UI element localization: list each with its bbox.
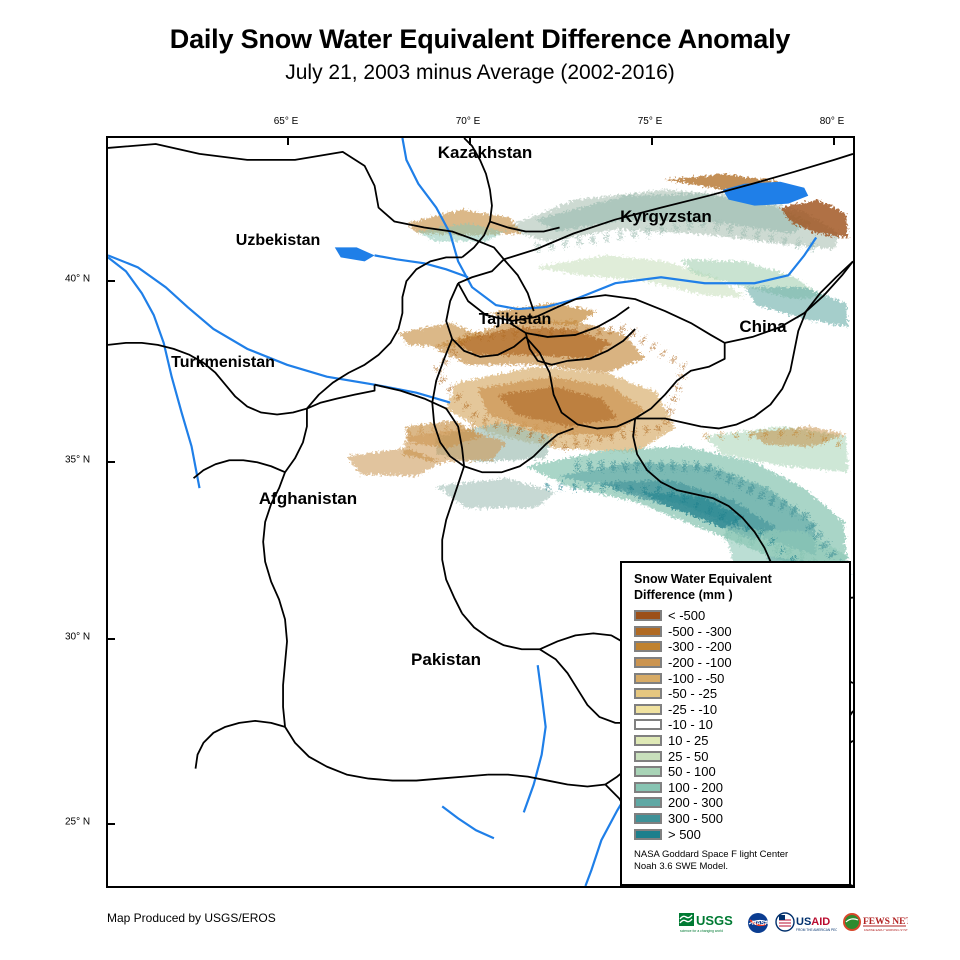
legend-label: > 500 bbox=[668, 828, 701, 841]
lon-tick-mark bbox=[287, 138, 289, 145]
legend-row: > 500 bbox=[634, 826, 841, 842]
legend-label: -50 - -25 bbox=[668, 687, 717, 700]
legend-swatch bbox=[634, 813, 662, 824]
legend-row: < -500 bbox=[634, 608, 841, 624]
legend-row: 100 - 200 bbox=[634, 780, 841, 796]
legend-label: 25 - 50 bbox=[668, 750, 708, 763]
legend-swatch bbox=[634, 829, 662, 840]
legend-title: Snow Water Equivalent Difference (mm ) bbox=[634, 571, 814, 603]
svg-text:USGS: USGS bbox=[696, 913, 733, 928]
lon-tick-label-70e: 70° E bbox=[456, 116, 481, 127]
legend-label: -100 - -50 bbox=[668, 672, 724, 685]
lat-tick-label-25n: 25° N bbox=[65, 817, 90, 828]
legend-row: 200 - 300 bbox=[634, 795, 841, 811]
legend-swatch bbox=[634, 610, 662, 621]
legend-swatch bbox=[634, 782, 662, 793]
legend-label: 300 - 500 bbox=[668, 812, 723, 825]
lat-tick-label-35n: 35° N bbox=[65, 455, 90, 466]
svg-text:science for a changing world: science for a changing world bbox=[680, 929, 723, 933]
map-credit: Map Produced by USGS/EROS bbox=[107, 911, 276, 925]
page-subtitle: July 21, 2003 minus Average (2002-2016) bbox=[0, 58, 960, 88]
lon-tick-label-80e: 80° E bbox=[820, 116, 845, 127]
legend-label: -500 - -300 bbox=[668, 625, 732, 638]
lat-tick-label-30n: 30° N bbox=[65, 632, 90, 643]
legend-label: < -500 bbox=[668, 609, 705, 622]
legend-swatch bbox=[634, 735, 662, 746]
legend-swatch bbox=[634, 719, 662, 730]
legend-label: -10 - 10 bbox=[668, 718, 713, 731]
legend-swatch bbox=[634, 751, 662, 762]
legend-row: -10 - 10 bbox=[634, 717, 841, 733]
legend-row: -500 - -300 bbox=[634, 624, 841, 640]
lon-tick-label-65e: 65° E bbox=[274, 116, 299, 127]
legend-swatch bbox=[634, 688, 662, 699]
lat-tick-mark bbox=[108, 280, 115, 282]
map-legend: Snow Water Equivalent Difference (mm ) <… bbox=[620, 561, 851, 886]
legend-swatch bbox=[634, 766, 662, 777]
lon-tick-mark bbox=[651, 138, 653, 145]
lat-tick-mark bbox=[108, 823, 115, 825]
usaid-logo[interactable]: USAID FROM THE AMERICAN PEOPLE bbox=[775, 911, 837, 935]
legend-label: -25 - -10 bbox=[668, 703, 717, 716]
usgs-logo[interactable]: USGS science for a changing world bbox=[679, 911, 741, 935]
legend-row: -300 - -200 bbox=[634, 639, 841, 655]
legend-label: 100 - 200 bbox=[668, 781, 723, 794]
lat-tick-mark bbox=[108, 461, 115, 463]
logo-strip: USGS science for a changing world NASA U… bbox=[679, 908, 908, 938]
legend-row: -50 - -25 bbox=[634, 686, 841, 702]
legend-label: 50 - 100 bbox=[668, 765, 716, 778]
lon-tick-mark bbox=[469, 138, 471, 145]
legend-label: -300 - -200 bbox=[668, 640, 732, 653]
legend-row: 50 - 100 bbox=[634, 764, 841, 780]
legend-footer: NASA Goddard Space F light Center Noah 3… bbox=[634, 849, 841, 874]
legend-footer-line2: Noah 3.6 SWE Model. bbox=[634, 861, 841, 874]
title-block: Daily Snow Water Equivalent Difference A… bbox=[0, 22, 960, 88]
legend-label: -200 - -100 bbox=[668, 656, 732, 669]
legend-swatch bbox=[634, 797, 662, 808]
legend-row: 10 - 25 bbox=[634, 733, 841, 749]
legend-label: 10 - 25 bbox=[668, 734, 708, 747]
legend-swatch bbox=[634, 641, 662, 652]
legend-swatch bbox=[634, 657, 662, 668]
svg-text:FEWS NET: FEWS NET bbox=[863, 917, 908, 927]
legend-row: -200 - -100 bbox=[634, 655, 841, 671]
svg-text:NASA: NASA bbox=[752, 921, 770, 927]
svg-text:FAMINE EARLY WARNING SYSTEMS N: FAMINE EARLY WARNING SYSTEMS NETWORK bbox=[864, 928, 908, 932]
legend-items: < -500-500 - -300-300 - -200-200 - -100-… bbox=[634, 608, 841, 842]
legend-row: -25 - -10 bbox=[634, 702, 841, 718]
legend-row: -100 - -50 bbox=[634, 670, 841, 686]
page-title: Daily Snow Water Equivalent Difference A… bbox=[0, 22, 960, 56]
fewsnet-logo[interactable]: FEWS NET FAMINE EARLY WARNING SYSTEMS NE… bbox=[842, 911, 908, 935]
legend-swatch bbox=[634, 673, 662, 684]
svg-text:USAID: USAID bbox=[796, 916, 830, 928]
legend-swatch bbox=[634, 704, 662, 715]
lon-tick-label-75e: 75° E bbox=[638, 116, 663, 127]
legend-row: 25 - 50 bbox=[634, 748, 841, 764]
lon-tick-mark bbox=[833, 138, 835, 145]
svg-text:FROM THE AMERICAN PEOPLE: FROM THE AMERICAN PEOPLE bbox=[796, 928, 837, 932]
legend-swatch bbox=[634, 626, 662, 637]
legend-label: 200 - 300 bbox=[668, 796, 723, 809]
nasa-logo[interactable]: NASA bbox=[746, 911, 770, 935]
legend-row: 300 - 500 bbox=[634, 811, 841, 827]
legend-footer-line1: NASA Goddard Space F light Center bbox=[634, 849, 841, 862]
lat-tick-mark bbox=[108, 638, 115, 640]
lat-tick-label-40n: 40° N bbox=[65, 274, 90, 285]
